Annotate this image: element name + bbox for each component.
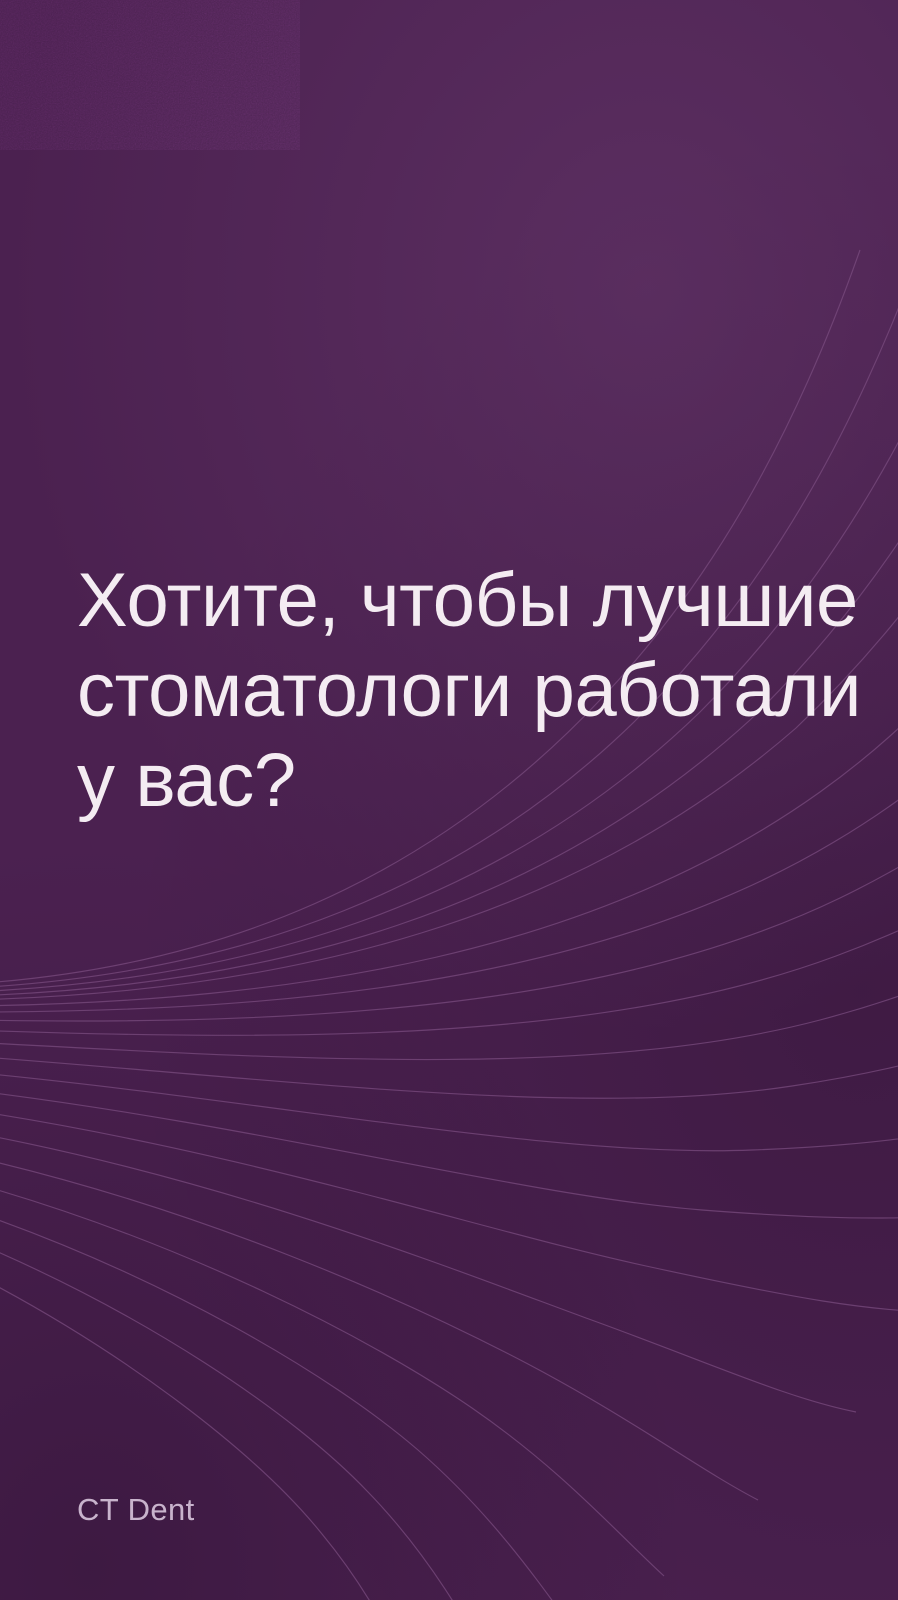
poster-canvas: Хотите, чтобы лучшие стоматологи работал… xyxy=(0,0,898,1600)
page-title: Хотите, чтобы лучшие стоматологи работал… xyxy=(77,556,867,826)
arc-group xyxy=(0,196,898,1600)
brand-wordmark: CT Dent xyxy=(77,1491,195,1529)
grain-texture-overlay xyxy=(0,0,300,150)
